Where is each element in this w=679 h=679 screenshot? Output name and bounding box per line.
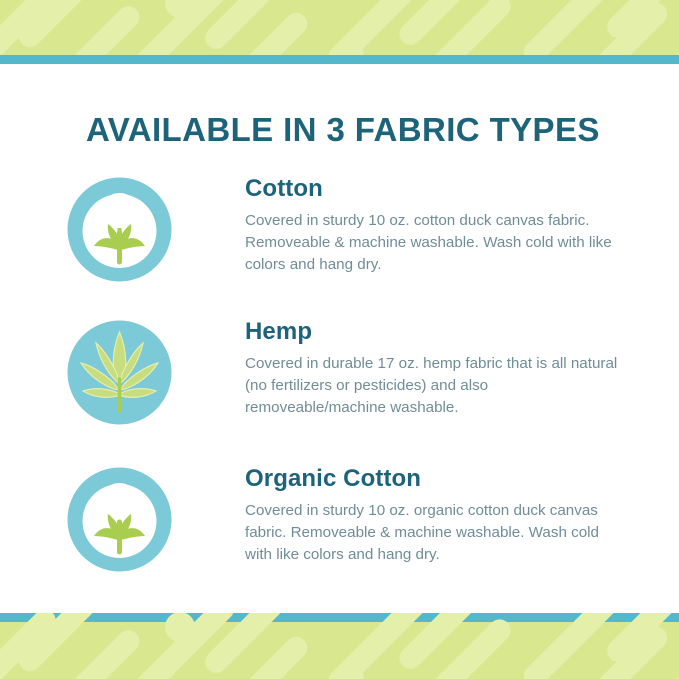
feature-heading: Cotton — [245, 176, 625, 201]
bottom-decorative-band — [0, 613, 679, 679]
top-teal-stripe — [0, 55, 679, 64]
feature-text-organic-cotton: Organic Cotton Covered in sturdy 10 oz. … — [245, 466, 625, 566]
feature-heading: Organic Cotton — [245, 466, 625, 491]
hemp-leaf-icon — [66, 319, 173, 426]
feature-text-cotton: Cotton Covered in sturdy 10 oz. cotton d… — [245, 176, 625, 276]
feature-body: Covered in durable 17 oz. hemp fabric th… — [245, 353, 625, 419]
bottom-band-green-field — [0, 622, 679, 679]
feature-body: Covered in sturdy 10 oz. cotton duck can… — [245, 210, 625, 276]
top-decorative-band — [0, 0, 679, 64]
cotton-boll-icon — [66, 176, 173, 283]
top-band-green-field — [0, 0, 679, 55]
feature-heading: Hemp — [245, 319, 625, 344]
page-title: AVAILABLE IN 3 FABRIC TYPES — [86, 111, 600, 149]
organic-cotton-boll-icon — [66, 466, 173, 573]
fabric-types-infographic: AVAILABLE IN 3 FABRIC TYPES Cotton Cover… — [0, 0, 679, 679]
feature-text-hemp: Hemp Covered in durable 17 oz. hemp fabr… — [245, 319, 625, 419]
feature-body: Covered in sturdy 10 oz. organic cotton … — [245, 500, 625, 566]
bottom-band-diagonal-pattern — [0, 613, 679, 679]
